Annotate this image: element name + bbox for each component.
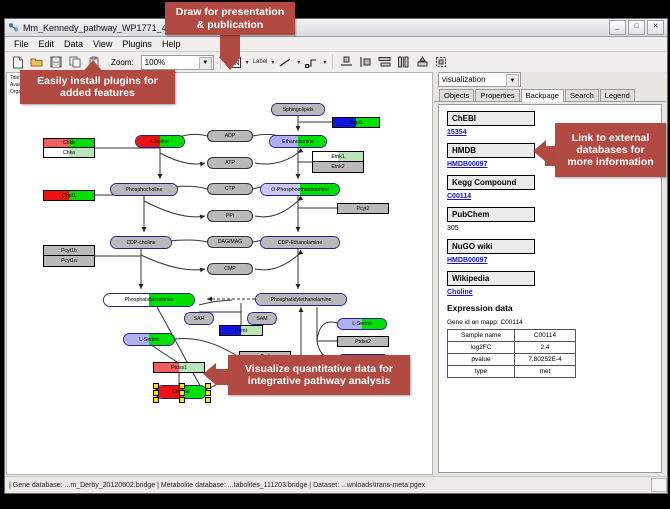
expression-value: C00114 (515, 330, 576, 342)
gene-row[interactable]: Etnk1 (313, 152, 363, 162)
chevron-down-icon[interactable]: ▾ (323, 59, 326, 66)
metabolite-node-phosphocholine[interactable]: Phosphocholine (110, 183, 178, 196)
menu-item-data[interactable]: Data (59, 39, 88, 49)
expression-key: type (448, 366, 515, 378)
gene-box-ptdss1[interactable]: Ptdss1 (153, 362, 205, 373)
resize-grip[interactable] (651, 478, 667, 492)
db-header-nugo-wiki: NuGO wiki (447, 239, 535, 254)
zoom-value: 100% (145, 58, 165, 67)
gene-row[interactable]: Pcyt2 (338, 204, 388, 213)
db-link-wikipedia[interactable]: Choline (447, 289, 653, 296)
selection-handle[interactable] (205, 397, 211, 403)
minimize-button[interactable]: _ (609, 20, 626, 35)
selection-handle[interactable] (179, 390, 185, 396)
metabolite-node-choline_top[interactable]: Choline (135, 135, 185, 148)
menu-item-file[interactable]: File (9, 39, 34, 49)
metabolite-label: Choline (151, 139, 169, 145)
db-value-pubchem: 305 (447, 225, 653, 232)
visualization-combobox[interactable]: visualization ▼ (438, 72, 521, 87)
zoom-combobox[interactable]: 100% ▼ (141, 55, 214, 70)
metabolite-label: O-Phosphoethanolamine (271, 187, 328, 193)
callout-links-line3: more information (567, 156, 653, 168)
gene-row[interactable]: Etnk2 (313, 162, 363, 172)
expression-table-row: pvalue7.80252E-4 (448, 354, 576, 366)
app-icon (8, 22, 19, 33)
gene-row[interactable]: Ptdss2 (338, 337, 388, 346)
gene-row[interactable]: Pcyt1b (44, 246, 94, 256)
cofactor-node-dagmag[interactable]: DAG/MAG (207, 236, 253, 248)
metabolite-node-phosphatidylethanolamine[interactable]: Phosphatidylethanolamine (255, 293, 347, 306)
side-panel-tabs: Objects Properties Backpage Search Legen… (434, 87, 666, 102)
selection-handle[interactable] (153, 383, 159, 389)
callout-links-line2: databases for (576, 144, 644, 156)
label-tool-label[interactable]: Label (253, 59, 268, 65)
db-header-kegg-compound: Kegg Compound (447, 175, 535, 190)
pathway-canvas[interactable]: Title: Availa Organi (6, 72, 433, 475)
callout-draw-arrow-icon (219, 57, 241, 70)
metabolite-label: SAH (194, 316, 205, 322)
tab-legend[interactable]: Legend (600, 89, 635, 101)
chevron-down-icon[interactable]: ▼ (199, 57, 212, 70)
callout-plugins: Easily install plugins for added feature… (20, 70, 175, 104)
close-button[interactable]: ✕ (647, 20, 664, 35)
cofactor-node-cmp[interactable]: CMP (207, 263, 253, 275)
gene-id-line: Gene id on mapp: C00114 (447, 319, 653, 326)
expression-table-row: Sample nameC00114 (448, 330, 576, 342)
save-icon[interactable] (48, 55, 63, 70)
callout-draw-line2: & publication (197, 19, 264, 31)
visualization-value: visualization (442, 75, 486, 84)
gene-box-etnk[interactable]: Etnk1Etnk2 (312, 151, 364, 173)
metabolite-node-phosphatidylcholines[interactable]: Phosphatidylcholines (103, 293, 195, 307)
expression-value: met (515, 366, 576, 378)
metabolite-label: Phosphocholine (126, 187, 163, 193)
window-buttons: _ □ ✕ (609, 20, 664, 35)
menu-item-view[interactable]: View (88, 39, 117, 49)
metabolite-node-ethanolamine_top[interactable]: Ethanolamine (269, 135, 327, 148)
expression-key: Sample name (448, 330, 515, 342)
align-left-icon[interactable] (358, 55, 373, 70)
gene-label: Chka (63, 150, 75, 156)
stack-icon[interactable] (415, 55, 430, 70)
distribute-vertical-icon[interactable] (377, 55, 392, 70)
cofactor-node-adp[interactable]: ADP (207, 130, 253, 142)
metabolite-node-cdp_ethanolamine[interactable]: CDP-Ethanolamine (260, 236, 340, 249)
metabolite-label: Phosphatidylcholines (125, 297, 174, 303)
metabolite-label: L-Serine (139, 337, 159, 343)
callout-viz-arrow-icon (203, 363, 216, 385)
metabolite-label: Sphingolipids (283, 107, 314, 113)
gene-row[interactable]: Ptdss1 (154, 363, 204, 372)
visualization-row: visualization ▼ (434, 72, 666, 87)
gene-label: Etnk1 (331, 154, 344, 160)
expression-table-row: log2FC2.4 (448, 342, 576, 354)
callout-links-line1: Link to external (572, 132, 650, 144)
menu-bar: File Edit Data View Plugins Help (5, 37, 667, 52)
gene-label: Sgpl1 (349, 120, 362, 126)
callout-plugins-line2: added features (60, 87, 135, 99)
selection-handle[interactable] (205, 390, 211, 396)
callout-links-arrow-icon (533, 140, 546, 162)
gene-box-chpt1[interactable]: Chpt1 (43, 190, 95, 201)
gene-label: Pemt (235, 328, 247, 334)
expression-value: 2.4 (515, 342, 576, 354)
selection-handle[interactable] (153, 397, 159, 403)
gene-box-ptdss2[interactable]: Ptdss2 (337, 336, 389, 347)
screenshot-root: Mm_Kennedy_pathway_WP1771_45176.gpml _ □… (0, 0, 670, 509)
metabolite-node-cdp_choline[interactable]: CDP-choline (110, 236, 172, 249)
metabolite-node-sam[interactable]: SAM (247, 312, 277, 325)
metabolite-label: Ethanolamine (282, 139, 314, 145)
selection-handle[interactable] (153, 390, 159, 396)
expression-table: Sample nameC00114log2FC2.4pvalue7.80252E… (447, 329, 576, 378)
menu-item-help[interactable]: Help (157, 39, 186, 49)
selection-handle[interactable] (179, 383, 185, 389)
chevron-down-icon[interactable]: ▾ (297, 59, 300, 66)
metabolite-label: CDP-Ethanolamine (278, 240, 322, 246)
gene-label: Pcyt1a (61, 258, 77, 264)
status-bar-text: | Gene database: ...m_Derby_20120602.bri… (9, 482, 425, 489)
callout-viz-line1: Visualize quantitative data for (245, 363, 393, 375)
metabolite-node-l_serine_right[interactable]: L-Serine (337, 318, 387, 330)
gene-label: Ptdss1 (171, 365, 187, 371)
gene-label: Etnk2 (331, 164, 344, 170)
db-link-nugo-wiki[interactable]: HMDB00097 (447, 257, 653, 264)
gene-label: Pcyt1b (61, 248, 77, 254)
gene-box-pcyt1[interactable]: Pcyt1bPcyt1a (43, 245, 95, 267)
expression-key: log2FC (448, 342, 515, 354)
gene-row[interactable]: Pcyt1a (44, 256, 94, 266)
toolbar-separator (332, 55, 333, 69)
gene-label: Pcyt2 (357, 206, 370, 212)
new-file-icon[interactable] (10, 55, 25, 70)
cofactor-node-ppi[interactable]: PPi (207, 210, 253, 222)
chevron-down-icon[interactable]: ▾ (271, 59, 274, 66)
status-bar: | Gene database: ...m_Derby_20120602.bri… (5, 476, 667, 493)
db-header-pubchem: PubChem (447, 207, 535, 222)
gene-box-chk[interactable]: ChkbChka (43, 138, 95, 158)
metabolite-label: CDP-choline (126, 240, 155, 246)
gene-box-sgpl1[interactable]: Sgpl1 (332, 117, 380, 128)
align-top-icon[interactable] (339, 55, 354, 70)
copy-icon[interactable] (67, 55, 82, 70)
tab-search[interactable]: Search (565, 89, 599, 101)
metabolite-label: L-Serine (352, 321, 372, 327)
maximize-button[interactable]: □ (628, 20, 645, 35)
cofactor-node-atp[interactable]: ATP (207, 157, 253, 169)
gene-row[interactable]: Chpt1 (44, 191, 94, 200)
tab-backpage[interactable]: Backpage (521, 89, 564, 102)
chevron-down-icon[interactable]: ▼ (506, 74, 519, 87)
gene-box-pemt[interactable]: Pemt (219, 325, 263, 336)
callout-viz-line2: integrative pathway analysis (248, 375, 390, 387)
db-header-hmdb: HMDB (447, 143, 535, 158)
zoom-label: Zoom: (111, 58, 134, 67)
gene-label: Chkb (63, 140, 75, 146)
menu-item-edit[interactable]: Edit (34, 39, 60, 49)
connector-icon[interactable] (304, 55, 319, 70)
open-folder-icon[interactable] (29, 55, 44, 70)
chevron-down-icon[interactable]: ▾ (246, 59, 249, 66)
db-link-kegg-compound[interactable]: C00114 (447, 193, 653, 200)
metabolite-node-sphingolipids[interactable]: Sphingolipids (271, 103, 325, 116)
gene-row[interactable]: Sgpl1 (333, 118, 379, 127)
cofactor-node-ctp[interactable]: CTP (207, 183, 253, 195)
expression-key: pvalue (448, 354, 515, 366)
gene-box-pcyt2[interactable]: Pcyt2 (337, 203, 389, 214)
gene-row[interactable]: Pemt (220, 326, 262, 335)
expression-data-title: Expression data (447, 303, 653, 313)
gene-label: Ptdss2 (355, 339, 371, 345)
callout-viz: Visualize quantitative data for integrat… (228, 355, 410, 395)
callout-links: Link to external databases for more info… (555, 123, 666, 177)
tab-properties[interactable]: Properties (475, 89, 519, 101)
callout-draw-stem (220, 35, 240, 57)
metabolite-label: Phosphatidylethanolamine (271, 297, 332, 303)
metabolite-node-sah[interactable]: SAH (184, 312, 214, 325)
db-header-chebi: ChEBI (447, 111, 535, 126)
gene-row[interactable]: Chka (44, 148, 94, 157)
distribute-horizontal-icon[interactable] (396, 55, 411, 70)
menu-item-plugins[interactable]: Plugins (117, 39, 157, 49)
metabolite-node-o_phosphoethanolamine[interactable]: O-Phosphoethanolamine (260, 183, 340, 196)
gene-label: Chpt1 (62, 193, 76, 199)
callout-plugins-line1: Easily install plugins for (37, 75, 158, 87)
gene-row[interactable]: Chkb (44, 139, 94, 148)
expression-value: 7.80252E-4 (515, 354, 576, 366)
metabolite-node-l_serine_left[interactable]: L-Serine (123, 333, 175, 346)
callout-draw: Draw for presentation & publication (165, 2, 295, 35)
tab-objects[interactable]: Objects (439, 89, 474, 101)
line-icon[interactable] (278, 55, 293, 70)
db-header-wikipedia: Wikipedia (447, 271, 535, 286)
callout-draw-line1: Draw for presentation (176, 6, 285, 18)
title-bar: Mm_Kennedy_pathway_WP1771_45176.gpml _ □… (5, 19, 667, 37)
expression-table-row: typemet (448, 366, 576, 378)
metabolite-label: SAM (256, 316, 267, 322)
selection-handle[interactable] (179, 397, 185, 403)
group-icon[interactable] (434, 55, 449, 70)
